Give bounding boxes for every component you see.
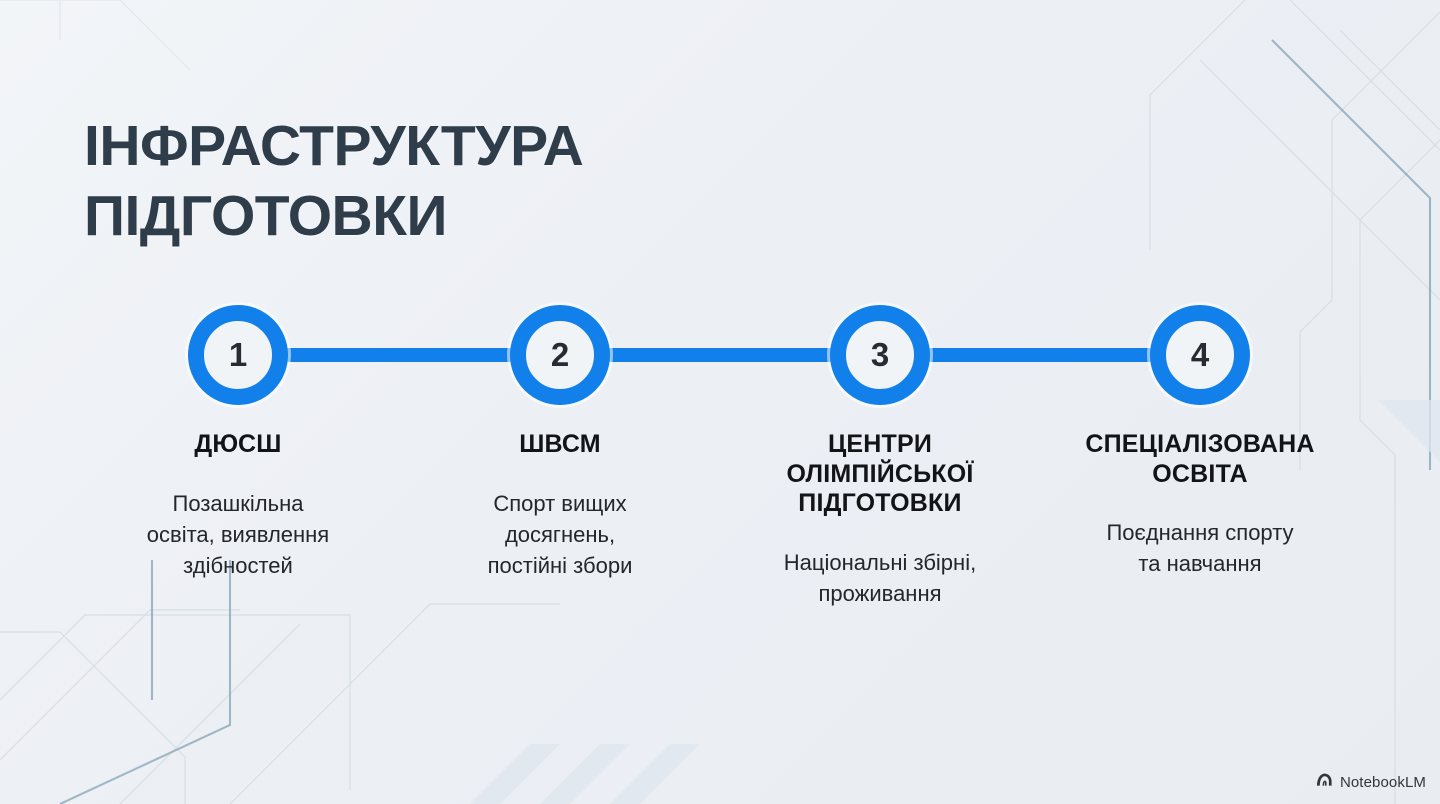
timeline-step-1-label: ДЮСШ <box>78 430 398 460</box>
timeline-step-4: СПЕЦІАЛІЗОВАНА ОСВІТА Поєднання спорту т… <box>1040 430 1360 579</box>
timeline-node-3[interactable]: 3 <box>830 305 930 405</box>
timeline-step-1-description: Позашкільна освіта, виявлення здібностей <box>78 488 398 582</box>
timeline-step-3: ЦЕНТРИ ОЛІМПІЙСЬКОЇ ПІДГОТОВКИ Національ… <box>720 430 1040 609</box>
notebooklm-watermark-label: NotebookLM <box>1340 774 1426 791</box>
timeline-connector-line <box>238 348 1200 362</box>
timeline-node-4-number: 4 <box>1191 338 1209 371</box>
timeline-node-1-number: 1 <box>229 338 247 371</box>
timeline-step-3-description: Національні збірні, проживання <box>720 547 1040 609</box>
timeline-node-3-number: 3 <box>871 338 889 371</box>
timeline-step-4-description: Поєднання спорту та навчання <box>1040 517 1360 579</box>
timeline-step-1: ДЮСШ Позашкільна освіта, виявлення здібн… <box>78 430 398 581</box>
timeline-step-4-label: СПЕЦІАЛІЗОВАНА ОСВІТА <box>1040 430 1360 489</box>
timeline-step-3-label: ЦЕНТРИ ОЛІМПІЙСЬКОЇ ПІДГОТОВКИ <box>720 430 1040 519</box>
notebooklm-watermark: NotebookLM <box>1316 772 1426 792</box>
notebooklm-logo-icon <box>1316 772 1333 792</box>
slide-canvas: ІНФРАСТРУКТУРА ПІДГОТОВКИ 1 2 3 4 ДЮСШ П… <box>0 0 1440 804</box>
timeline-step-2-description: Спорт вищих досягнень, постійні збори <box>400 488 720 582</box>
timeline-node-4[interactable]: 4 <box>1150 305 1250 405</box>
timeline-step-2-label: ШВСМ <box>400 430 720 460</box>
timeline-node-1[interactable]: 1 <box>188 305 288 405</box>
timeline-node-2[interactable]: 2 <box>510 305 610 405</box>
timeline-node-2-number: 2 <box>551 338 569 371</box>
timeline: 1 2 3 4 ДЮСШ Позашкільна освіта, виявлен… <box>0 0 1440 804</box>
timeline-step-2: ШВСМ Спорт вищих досягнень, постійні збо… <box>400 430 720 581</box>
